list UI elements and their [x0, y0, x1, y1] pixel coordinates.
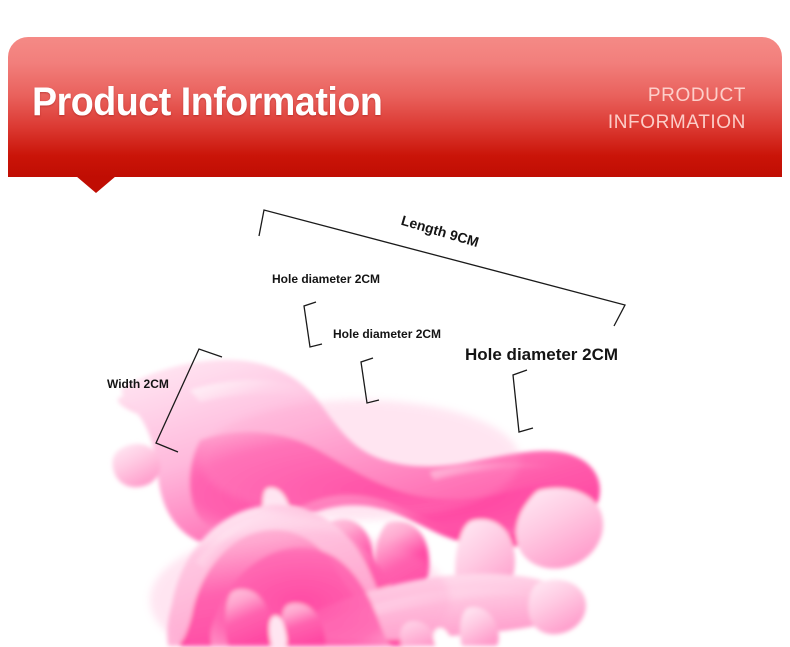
product-photo-svg	[0, 190, 790, 647]
measurement-label-hole-diameter-3: Hole diameter 2CM	[465, 345, 618, 365]
hole2-bracket	[361, 358, 379, 403]
banner-subtitle-line2: INFORMATION	[608, 109, 746, 136]
banner-subtitle-line1: PRODUCT	[608, 82, 746, 109]
measurement-label-width: Width 2CM	[107, 377, 169, 391]
measurement-label-hole-diameter-1: Hole diameter 2CM	[272, 272, 380, 286]
hole1-bracket	[304, 302, 322, 347]
page-title: Product Information	[32, 80, 382, 124]
hole3-bracket	[513, 370, 533, 432]
product-illustration	[0, 190, 790, 647]
measurement-label-hole-diameter-2: Hole diameter 2CM	[333, 327, 441, 341]
banner-subtitle: PRODUCT INFORMATION	[608, 82, 746, 136]
header-banner: Product Information PRODUCT INFORMATION	[0, 0, 790, 195]
product-information-page: Product Information PRODUCT INFORMATION	[0, 0, 790, 647]
